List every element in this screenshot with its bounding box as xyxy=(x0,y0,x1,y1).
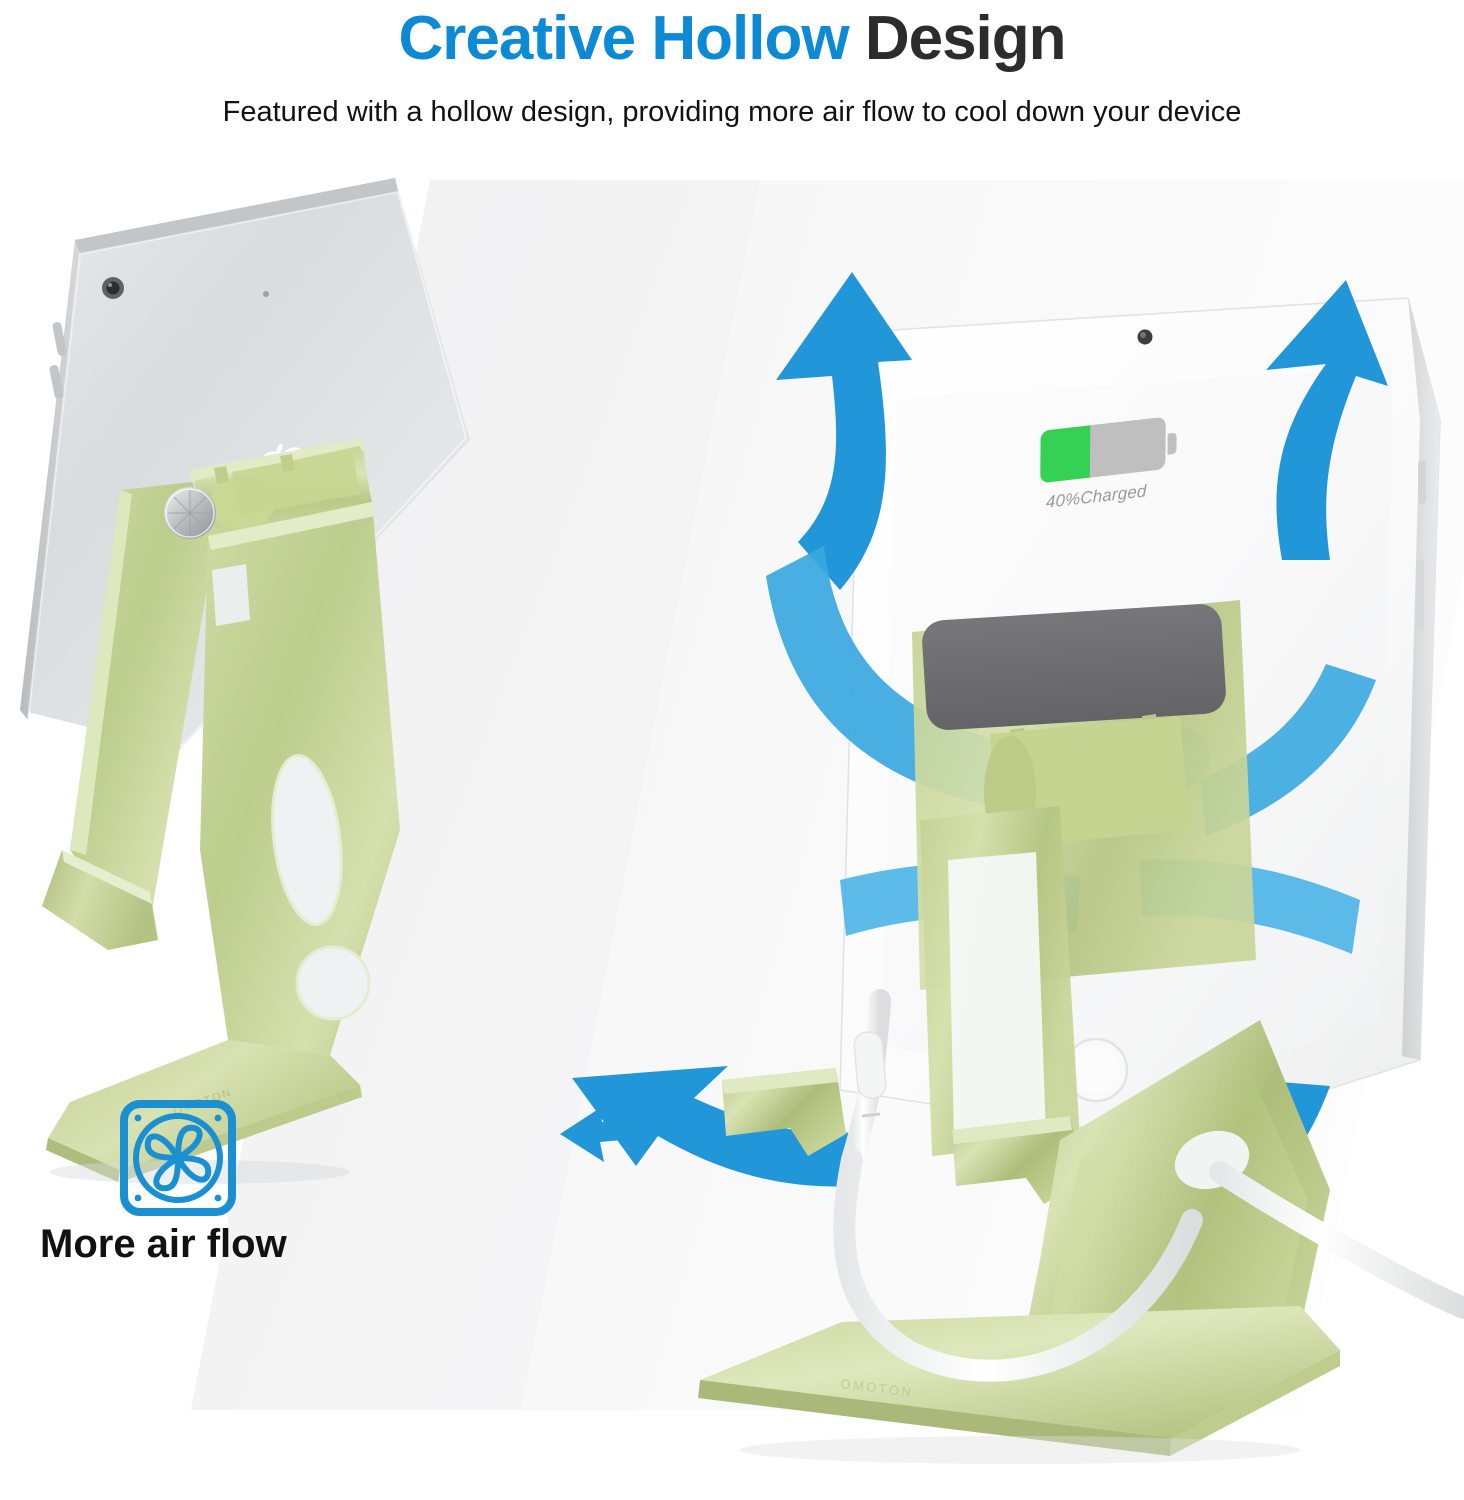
microphone xyxy=(263,291,269,297)
title-highlight: Creative Hollow xyxy=(398,4,848,73)
stand-arm xyxy=(200,502,400,1055)
battery-fill xyxy=(1040,425,1091,483)
product-marketing-image: Creative Hollow Design Featured with a h… xyxy=(0,0,1464,1500)
title-rest: Design xyxy=(865,4,1066,73)
right-scene: OMOTON xyxy=(540,260,1464,1500)
power-button xyxy=(1418,460,1426,504)
arm-notch xyxy=(212,564,250,626)
page-title: Creative Hollow Design xyxy=(0,0,1464,70)
hollow-slot xyxy=(948,852,1046,1142)
volume-button xyxy=(1416,560,1424,630)
right-stand: OMOTON xyxy=(698,600,1340,1464)
battery-nub xyxy=(1167,433,1176,455)
header: Creative Hollow Design Featured with a h… xyxy=(0,0,1464,129)
stand-base: OMOTON xyxy=(698,1306,1340,1456)
fan-badge xyxy=(118,1098,238,1218)
rubber-pad xyxy=(921,603,1227,732)
page-subtitle: Featured with a hollow design, providing… xyxy=(0,70,1464,129)
feature-badge-label: More air flow xyxy=(40,1222,287,1267)
fan-icon xyxy=(118,1098,238,1218)
left-scene: OMOTON xyxy=(0,150,520,1030)
